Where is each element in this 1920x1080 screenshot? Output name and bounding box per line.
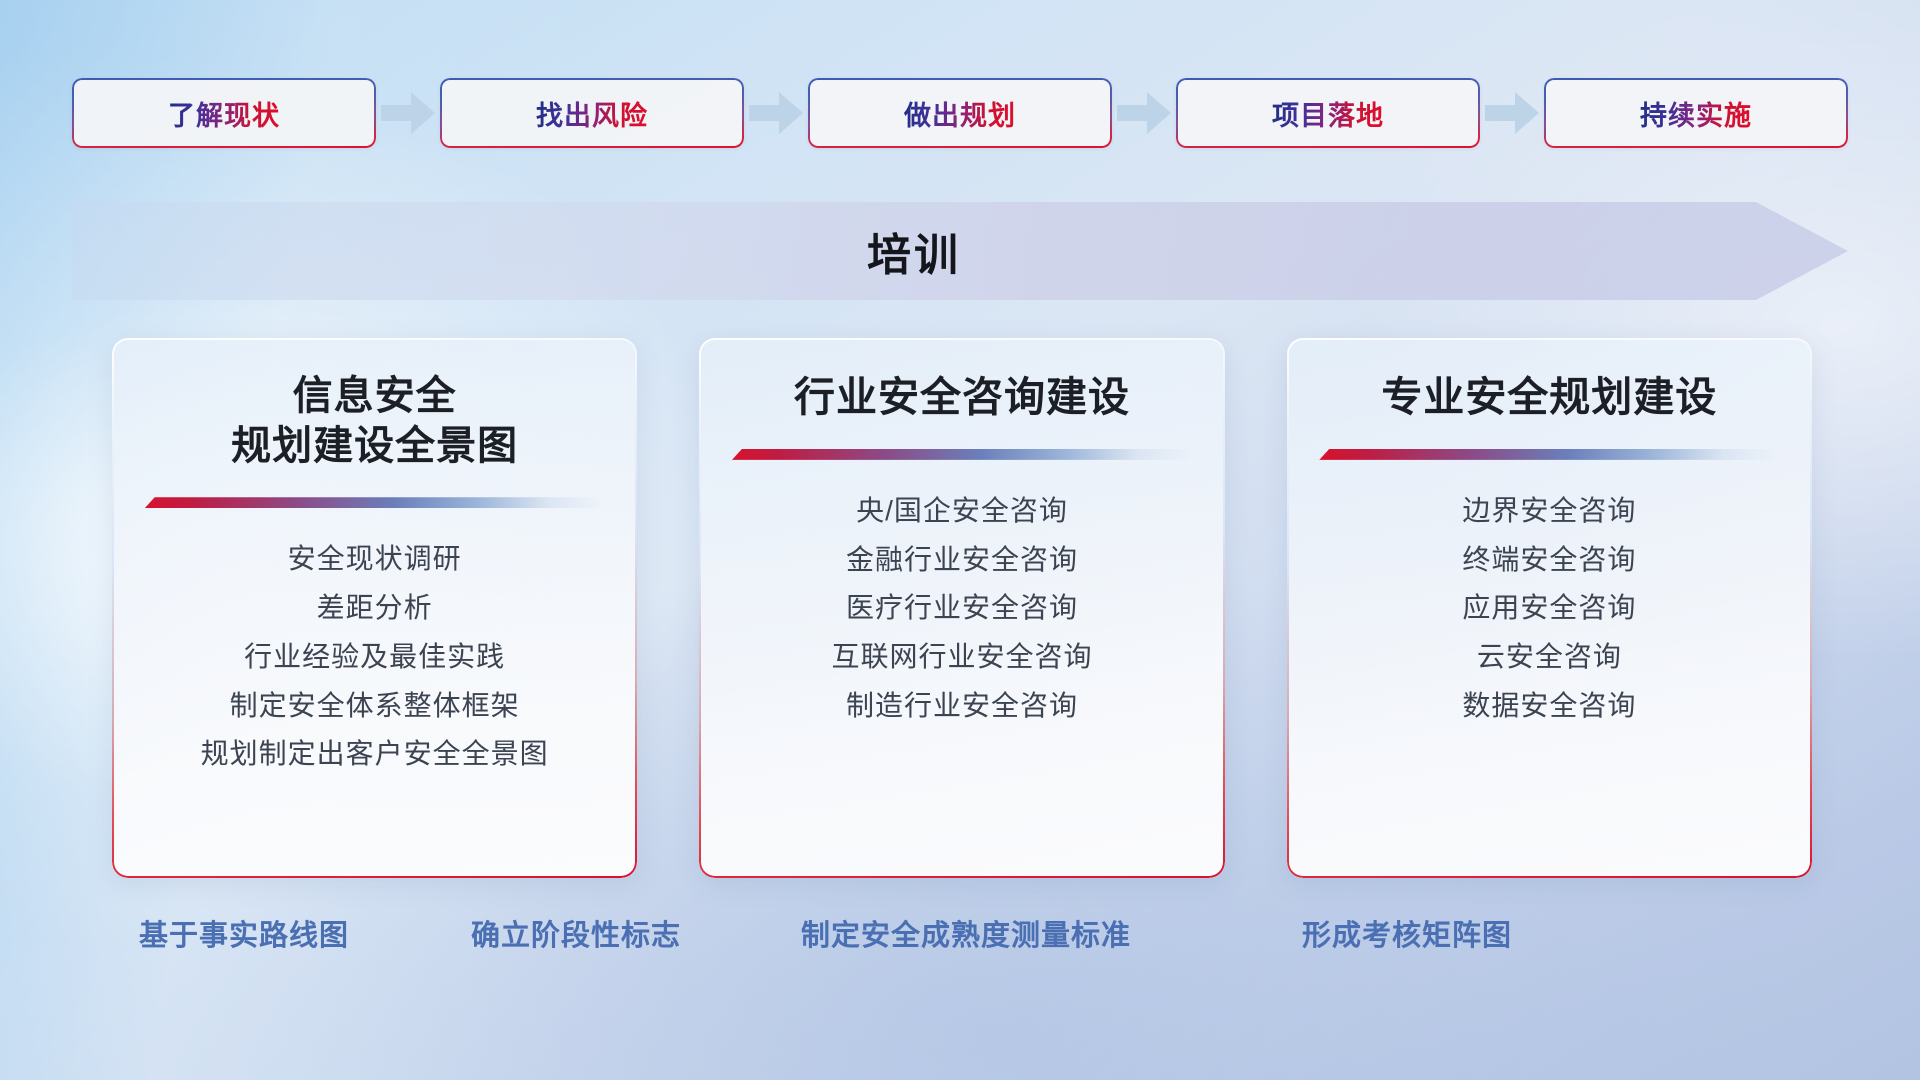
step-arrow-2 — [744, 92, 808, 134]
arrow-right-icon — [381, 92, 435, 134]
service-card-group: 信息安全 规划建设全景图 安全现状调研 差距分析 行业经验及最佳实践 制定安全体… — [112, 338, 1812, 878]
service-card-1-list: 安全现状调研 差距分析 行业经验及最佳实践 制定安全体系整体框架 规划制定出客户… — [201, 540, 549, 773]
banner-title: 培训 — [72, 202, 1848, 300]
step-label-5: 持续实施 — [1640, 94, 1752, 133]
footer-label-2: 确立阶段性标志 — [471, 912, 681, 954]
step-label-3: 做出规划 — [904, 94, 1016, 133]
step-box-1[interactable]: 了解现状 — [72, 78, 376, 148]
list-item: 制定安全体系整体框架 — [230, 687, 520, 725]
service-card-1-title: 信息安全 规划建设全景图 — [231, 372, 518, 471]
service-card-3-divider — [1319, 449, 1779, 460]
list-item: 行业经验及最佳实践 — [244, 638, 505, 676]
service-card-3-title: 专业安全规划建设 — [1381, 372, 1717, 423]
list-item: 制造行业安全咨询 — [846, 687, 1078, 725]
arrow-right-icon — [1485, 92, 1539, 134]
list-item: 差距分析 — [317, 589, 433, 627]
footer-label-3: 制定安全成熟度测量标准 — [801, 912, 1131, 954]
step-arrow-4 — [1480, 92, 1544, 134]
list-item: 规划制定出客户安全全景图 — [201, 735, 549, 773]
step-label-1: 了解现状 — [168, 94, 280, 133]
service-card-1-divider — [145, 497, 605, 508]
service-card-3[interactable]: 专业安全规划建设 边界安全咨询 终端安全咨询 应用安全咨询 云安全咨询 数据安全… — [1287, 338, 1812, 878]
service-card-2-divider — [732, 449, 1192, 460]
list-item: 终端安全咨询 — [1462, 541, 1636, 579]
step-label-2: 找出风险 — [536, 94, 648, 133]
training-banner: 培训 — [72, 202, 1848, 300]
service-card-3-list: 边界安全咨询 终端安全咨询 应用安全咨询 云安全咨询 数据安全咨询 — [1462, 492, 1636, 725]
service-card-1[interactable]: 信息安全 规划建设全景图 安全现状调研 差距分析 行业经验及最佳实践 制定安全体… — [112, 338, 637, 878]
step-box-3[interactable]: 做出规划 — [808, 78, 1112, 148]
list-item: 医疗行业安全咨询 — [846, 589, 1078, 627]
step-arrow-1 — [376, 92, 440, 134]
list-item: 云安全咨询 — [1477, 638, 1622, 676]
list-item: 应用安全咨询 — [1462, 589, 1636, 627]
footer-label-4: 形成考核矩阵图 — [1302, 912, 1512, 954]
arrow-right-icon — [749, 92, 803, 134]
step-label-4: 项目落地 — [1272, 94, 1384, 133]
list-item: 互联网行业安全咨询 — [831, 638, 1092, 676]
footer-label-group: 基于事实路线图 确立阶段性标志 制定安全成熟度测量标准 形成考核矩阵图 — [0, 912, 1920, 968]
step-arrow-3 — [1112, 92, 1176, 134]
process-step-strip: 了解现状 找出风险 做出规划 项目落地 持续实施 — [72, 78, 1848, 148]
step-box-2[interactable]: 找出风险 — [440, 78, 744, 148]
list-item: 金融行业安全咨询 — [846, 541, 1078, 579]
step-box-5[interactable]: 持续实施 — [1544, 78, 1848, 148]
list-item: 边界安全咨询 — [1462, 492, 1636, 530]
service-card-2-list: 央/国企安全咨询 金融行业安全咨询 医疗行业安全咨询 互联网行业安全咨询 制造行… — [831, 492, 1092, 725]
service-card-2[interactable]: 行业安全咨询建设 央/国企安全咨询 金融行业安全咨询 医疗行业安全咨询 互联网行… — [699, 338, 1224, 878]
list-item: 央/国企安全咨询 — [856, 492, 1068, 530]
step-box-4[interactable]: 项目落地 — [1176, 78, 1480, 148]
list-item: 安全现状调研 — [288, 540, 462, 578]
arrow-right-icon — [1117, 92, 1171, 134]
service-card-2-title: 行业安全咨询建设 — [794, 372, 1130, 423]
list-item: 数据安全咨询 — [1462, 687, 1636, 725]
footer-label-1: 基于事实路线图 — [139, 912, 349, 954]
